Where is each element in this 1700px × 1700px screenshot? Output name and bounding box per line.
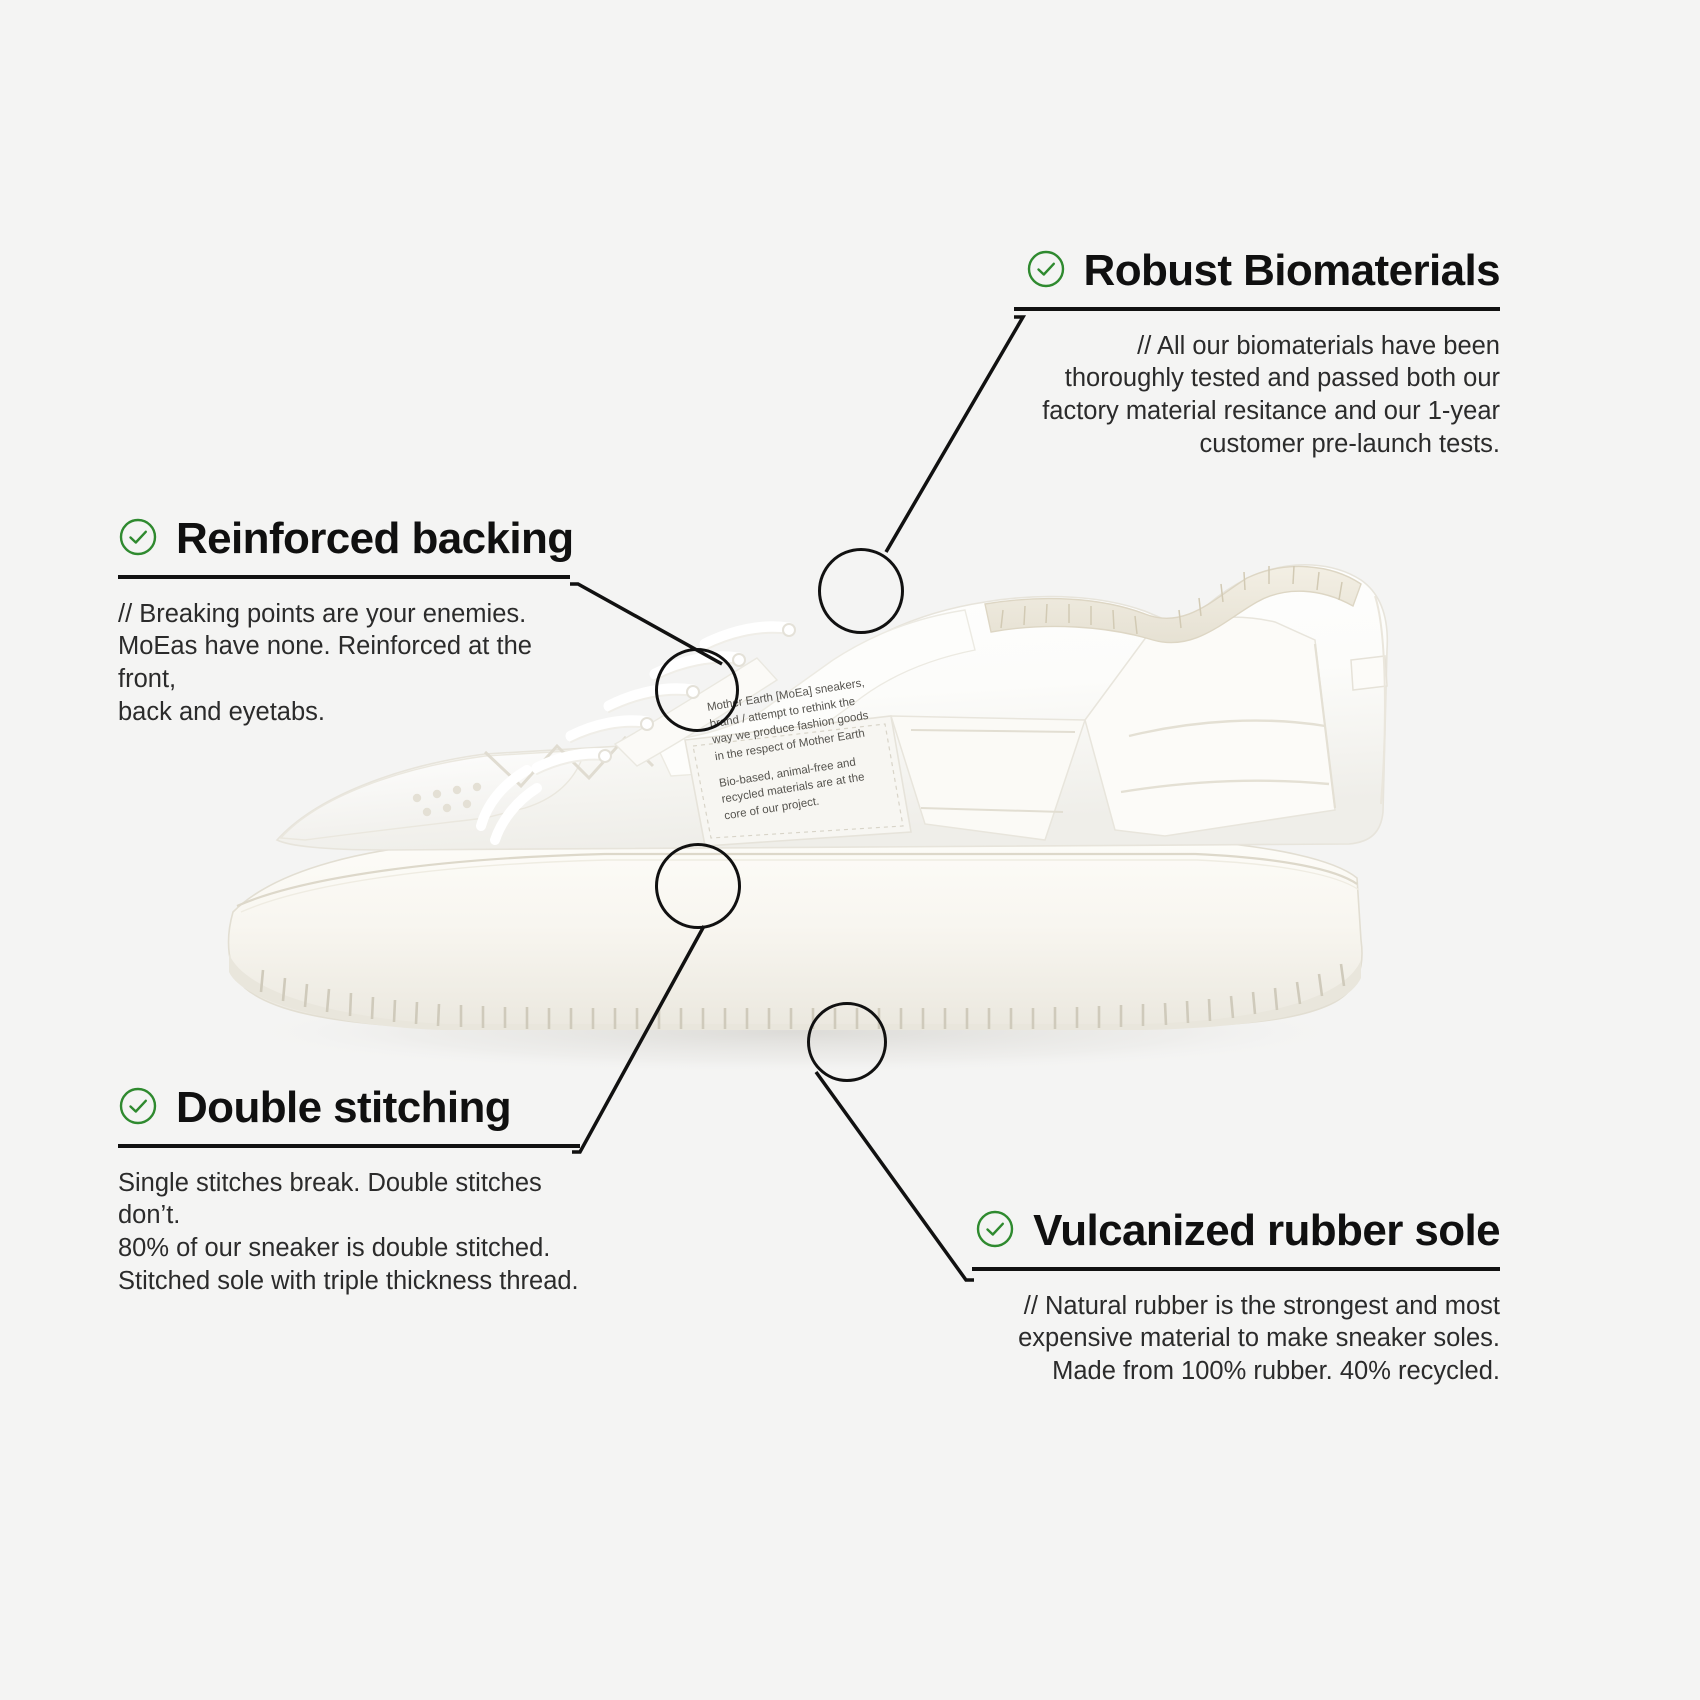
check-circle-icon [118,1086,158,1131]
hotspot-sole[interactable] [807,1002,887,1082]
check-circle-icon [118,517,158,562]
callout-title: Vulcanized rubber sole [1033,1208,1500,1254]
callout-title: Double stitching [176,1085,511,1131]
callout-double-stitching: Double stitching Single stitches break. … [118,1085,580,1297]
callout-reinforced-backing: Reinforced backing // Breaking points ar… [118,516,570,728]
leader-line-sole [816,1072,974,1280]
callout-vulcanized-rubber-sole: Vulcanized rubber sole // Natural rubber… [972,1208,1500,1388]
callout-divider [118,575,570,579]
callout-header: Double stitching [118,1085,580,1131]
hotspot-backing[interactable] [655,648,739,732]
callout-title: Reinforced backing [176,516,574,562]
callout-body: // All our biomaterials have been thorou… [1014,330,1500,461]
check-circle-icon [1026,249,1066,294]
callout-divider [118,1144,580,1148]
leader-line-biomaterials [886,317,1023,552]
callout-header: Vulcanized rubber sole [972,1208,1500,1254]
hotspot-biomaterials[interactable] [818,548,904,634]
callout-header: Robust Biomaterials [1014,248,1500,294]
callout-robust-biomaterials: Robust Biomaterials // All our biomateri… [1014,248,1500,460]
infographic-canvas: Mother Earth [MoEa] sneakers, brand / at… [0,0,1700,1700]
check-circle-icon [975,1209,1015,1254]
callout-divider [1014,307,1500,311]
leader-line-stitching [572,926,704,1152]
callout-body: // Natural rubber is the strongest and m… [972,1290,1500,1388]
callout-divider [972,1267,1500,1271]
callout-title: Robust Biomaterials [1084,248,1500,294]
callout-header: Reinforced backing [118,516,570,562]
callout-body: // Breaking points are your enemies. MoE… [118,598,570,729]
callout-body: Single stitches break. Double stitches d… [118,1167,580,1298]
hotspot-stitching[interactable] [655,843,741,929]
